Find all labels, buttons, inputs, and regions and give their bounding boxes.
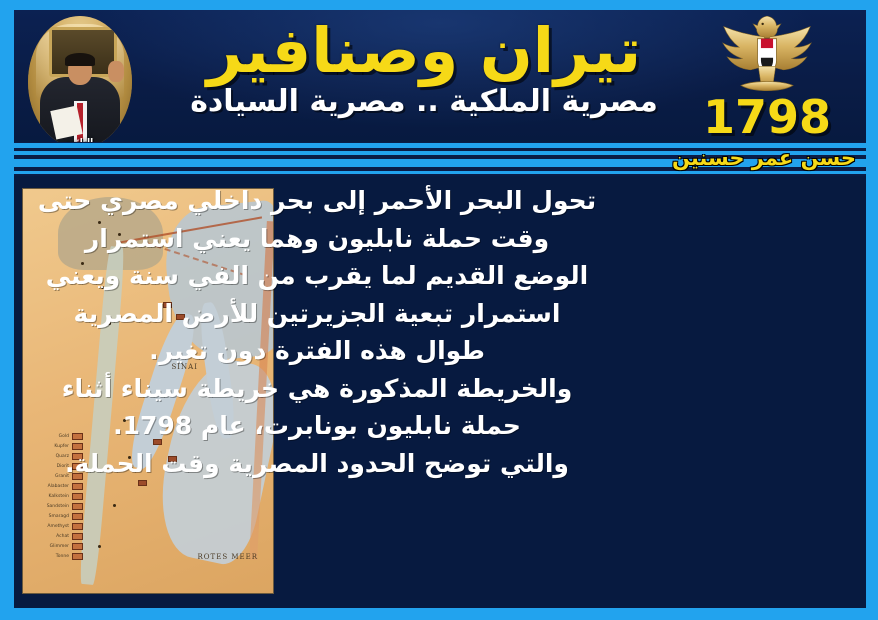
article-line: والخريطة المذكورة هي خريطة سيناء أثناء <box>34 370 600 408</box>
map-legend-item: Alabaster <box>27 483 83 490</box>
map-legend-swatch-icon <box>72 553 83 560</box>
year-label: 1798 <box>682 94 852 140</box>
article-line: تحول البحر الأحمر إلى بحر داخلي مصري حتى <box>34 182 600 220</box>
map-legend-label: Smaragd <box>49 514 69 519</box>
poster-root: النائب تيران وصنافير مصرية الملكية .. مص… <box>0 0 878 620</box>
map-legend-label: Alabaster <box>48 484 69 489</box>
map-legend-label: Amethyst <box>47 524 69 529</box>
portrait-papers <box>50 106 82 140</box>
page-title: تيران وصنافير <box>144 12 704 83</box>
presenter-name: حسن عمر حسنين <box>672 144 856 172</box>
article-line: وقت حملة نابليون وهما يعني استمرار <box>34 220 600 258</box>
map-legend-label: Achat <box>56 534 69 539</box>
poster-header: النائب تيران وصنافير مصرية الملكية .. مص… <box>14 10 866 142</box>
map-legend-item: Achat <box>27 533 83 540</box>
map-legend-swatch-icon <box>72 543 83 550</box>
article-line: حملة نابليون بونابرت، عام 1798. <box>34 407 600 445</box>
map-legend-swatch-icon <box>72 513 83 520</box>
portrait-image <box>28 16 132 142</box>
map-legend-item: Kalkstein <box>27 493 83 500</box>
header-titles: تيران وصنافير مصرية الملكية .. مصرية الس… <box>144 12 704 142</box>
map-legend-item: Glimmer <box>27 543 83 550</box>
map-city-dot <box>98 545 101 548</box>
article-line: والتي توضح الحدود المصرية وقت الحملة. <box>34 445 600 483</box>
map-legend-item: Sandstein <box>27 503 83 510</box>
stripe-band: حسن عمر حسنين <box>14 142 866 176</box>
poster-body: ROTES MEER SINAI Gold <box>14 176 866 608</box>
article-line: الوضع القديم لما يقرب من الفي سنة ويعني <box>34 257 600 295</box>
page-subtitle: مصرية الملكية .. مصرية السيادة <box>144 83 704 118</box>
article-line: استمرار تبعية الجزيرتين للأرض المصرية <box>34 295 600 333</box>
map-legend-item: Tonne <box>27 553 83 560</box>
article-text: تحول البحر الأحمر إلى بحر داخلي مصري حتى… <box>34 182 600 482</box>
map-legend-swatch-icon <box>72 493 83 500</box>
map-legend-swatch-icon <box>72 503 83 510</box>
map-label-red-sea: ROTES MEER <box>198 553 258 561</box>
map-legend-swatch-icon <box>72 533 83 540</box>
portrait-medallion: النائب <box>22 12 138 142</box>
eagle-of-saladin-icon <box>715 12 819 100</box>
map-legend-item: Smaragd <box>27 513 83 520</box>
map-legend-label: Glimmer <box>50 544 69 549</box>
map-legend-label: Tonne <box>56 554 69 559</box>
map-legend-swatch-icon <box>72 523 83 530</box>
map-legend-swatch-icon <box>72 483 83 490</box>
map-legend-label: Sandstein <box>47 504 69 509</box>
map-legend-label: Kalkstein <box>49 494 69 499</box>
article-line: طوال هذه الفترة دون تغير. <box>34 332 600 370</box>
portrait-raised-hand <box>108 61 124 82</box>
portrait-hair <box>65 53 94 66</box>
map-legend-item: Amethyst <box>27 523 83 530</box>
emblem-block: 1798 <box>682 10 852 142</box>
